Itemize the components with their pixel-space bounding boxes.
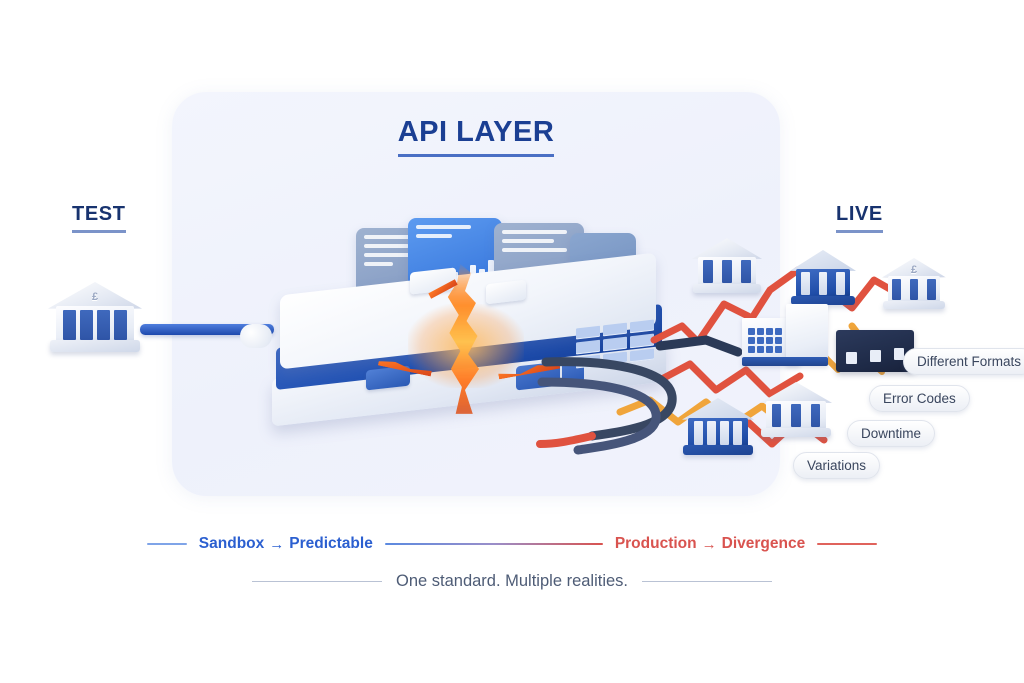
label-live: LIVE xyxy=(836,203,883,233)
bank-pound-symbol: £ xyxy=(882,264,946,276)
bank-base xyxy=(761,428,830,437)
live-bank-white-bottom xyxy=(760,382,832,440)
pill-variations[interactable]: Variations xyxy=(793,452,880,479)
live-warehouse-dark xyxy=(836,330,914,372)
warehouse-window xyxy=(846,352,857,364)
pill-error-codes[interactable]: Error Codes xyxy=(869,385,970,412)
legend-line-left xyxy=(147,543,187,545)
bank-base xyxy=(50,340,140,352)
bank-base xyxy=(693,284,760,293)
bank-columns xyxy=(801,272,846,295)
bank-columns xyxy=(63,310,127,340)
label-test: TEST xyxy=(72,203,126,233)
live-office-white xyxy=(742,304,828,366)
legend-sandbox: Sandbox xyxy=(199,535,264,553)
panel-line xyxy=(502,248,567,252)
caption-rule-left xyxy=(252,581,382,582)
warehouse-window xyxy=(870,350,881,362)
caption-rule-right xyxy=(642,581,772,582)
bank-columns xyxy=(703,260,751,283)
bank-columns xyxy=(892,279,936,301)
bank-roof xyxy=(692,238,762,259)
server-connector-nub xyxy=(240,324,272,348)
live-bank-white-top xyxy=(692,238,762,296)
legend-line-middle xyxy=(385,543,603,545)
label-live-text: LIVE xyxy=(836,203,883,233)
pill-different-formats[interactable]: Different Formats xyxy=(903,348,1024,375)
bank-roof xyxy=(682,398,754,420)
legend-divergence: Divergence xyxy=(722,535,806,553)
page-title: API LAYER xyxy=(172,116,780,157)
office-plinth xyxy=(742,357,828,366)
office-windows xyxy=(748,328,782,353)
legend: Sandbox → Predictable Production → Diver… xyxy=(0,533,1024,555)
bank-columns xyxy=(772,404,821,427)
label-test-text: TEST xyxy=(72,203,126,233)
panel-line xyxy=(502,239,554,243)
bank-pound-symbol: £ xyxy=(48,291,142,303)
legend-predictable: Predictable xyxy=(289,535,373,553)
sandbox-bank-icon: £ xyxy=(48,282,142,356)
legend-line-right xyxy=(817,543,877,545)
legend-arrow-left: → xyxy=(269,536,284,553)
live-bank-blue-bottom xyxy=(682,398,754,458)
panel-line xyxy=(416,234,452,238)
panel-line xyxy=(364,262,393,266)
legend-arrow-right: → xyxy=(702,536,717,553)
bank-base xyxy=(683,445,752,455)
pill-downtime[interactable]: Downtime xyxy=(847,420,935,447)
panel-line xyxy=(416,225,471,229)
legend-production: Production xyxy=(615,535,697,553)
bank-base xyxy=(883,301,944,310)
live-bank-navy-top xyxy=(790,250,856,308)
bank-roof xyxy=(760,382,832,403)
panel-line xyxy=(364,244,409,248)
page-title-text: API LAYER xyxy=(398,116,555,157)
bank-roof xyxy=(790,250,856,271)
caption-text: One standard. Multiple realities. xyxy=(396,572,628,591)
diagram-canvas: API LAYER TEST LIVE £ xyxy=(0,0,1024,683)
panel-line xyxy=(502,230,567,234)
caption: One standard. Multiple realities. xyxy=(0,572,1024,591)
live-bank-pound-right: £ xyxy=(882,258,946,312)
bank-columns xyxy=(694,421,743,445)
